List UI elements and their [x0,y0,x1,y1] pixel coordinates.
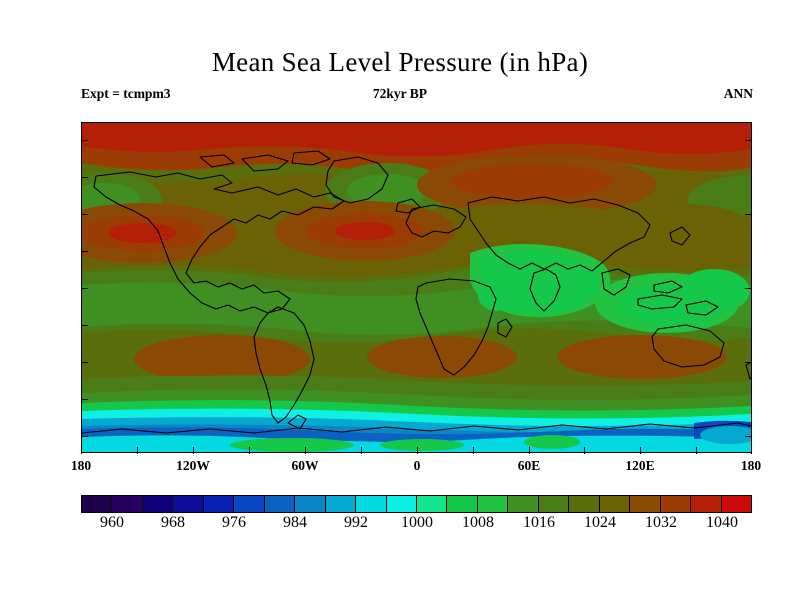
y-tick [81,436,88,437]
page-title: Mean Sea Level Pressure (in hPa) [0,47,800,78]
x-tick-label-0: 0 [414,458,421,474]
colorbar-swatch-2 [143,496,173,512]
y-tick [81,288,88,289]
colorbar-label-976: 976 [222,514,246,532]
colorbar-swatch-15 [539,496,569,512]
colorbar-swatch-11 [417,496,447,512]
period-label: 72kyr BP [0,86,800,102]
colorbar-label-984: 984 [283,514,307,532]
x-tick-label-60e: 60E [518,458,541,474]
x-tick-label-60w: 60W [292,458,319,474]
x-tick [640,447,641,454]
y-tick [81,214,88,215]
x-tick [696,447,697,454]
y-tick [81,251,88,252]
x-tick [529,447,530,454]
y-tick [81,140,88,141]
y-tick [81,362,88,363]
x-tick-label-180w: 180 [71,458,91,474]
colorbar-swatch-10 [387,496,417,512]
y-tick-right [745,214,752,215]
colorbar-swatch-8 [326,496,356,512]
x-tick [249,447,250,454]
colorbar-swatch-0 [82,496,112,512]
colorbar-swatch-20 [691,496,721,512]
x-tick [584,447,585,454]
y-tick [81,399,88,400]
colorbar-swatch-14 [508,496,538,512]
colorbar-label-1000: 1000 [401,514,433,532]
x-tick [81,447,82,454]
colorbar-label-1016: 1016 [523,514,555,532]
x-tick-label-120e: 120E [625,458,654,474]
colorbar-swatch-5 [234,496,264,512]
x-tick [305,447,306,454]
colorbar-swatch-3 [173,496,203,512]
colorbar-swatch-18 [630,496,660,512]
colorbar [81,495,752,513]
colorbar-label-992: 992 [344,514,368,532]
colorbar-swatch-4 [204,496,234,512]
x-tick [193,447,194,454]
x-tick [417,447,418,454]
colorbar-swatch-9 [356,496,386,512]
colorbar-swatch-13 [478,496,508,512]
y-tick [81,325,88,326]
x-tick-label-120w: 120W [176,458,210,474]
x-tick [751,447,752,454]
y-tick-right [745,140,752,141]
colorbar-label-1008: 1008 [462,514,494,532]
x-tick [473,447,474,454]
x-tick [137,447,138,454]
chart-page: Mean Sea Level Pressure (in hPa) Expt = … [0,0,800,600]
colorbar-swatch-6 [265,496,295,512]
x-tick-label-180e: 180 [741,458,761,474]
colorbar-label-1032: 1032 [645,514,677,532]
y-tick-right [745,288,752,289]
colorbar-swatch-16 [569,496,599,512]
colorbar-label-968: 968 [161,514,185,532]
contour-bands [82,123,751,452]
x-tick [361,447,362,454]
y-tick [81,177,88,178]
season-label: ANN [724,86,753,102]
map-plot-area [81,122,752,453]
y-tick-right [745,362,752,363]
y-tick-right [745,436,752,437]
colorbar-swatch-1 [112,496,142,512]
colorbar-swatch-12 [447,496,477,512]
colorbar-swatch-7 [295,496,325,512]
colorbar-label-1024: 1024 [584,514,616,532]
colorbar-label-960: 960 [100,514,124,532]
colorbar-label-1040: 1040 [706,514,738,532]
colorbar-swatch-21 [722,496,751,512]
colorbar-swatch-17 [600,496,630,512]
pressure-contour-map [82,123,751,452]
colorbar-swatch-19 [661,496,691,512]
